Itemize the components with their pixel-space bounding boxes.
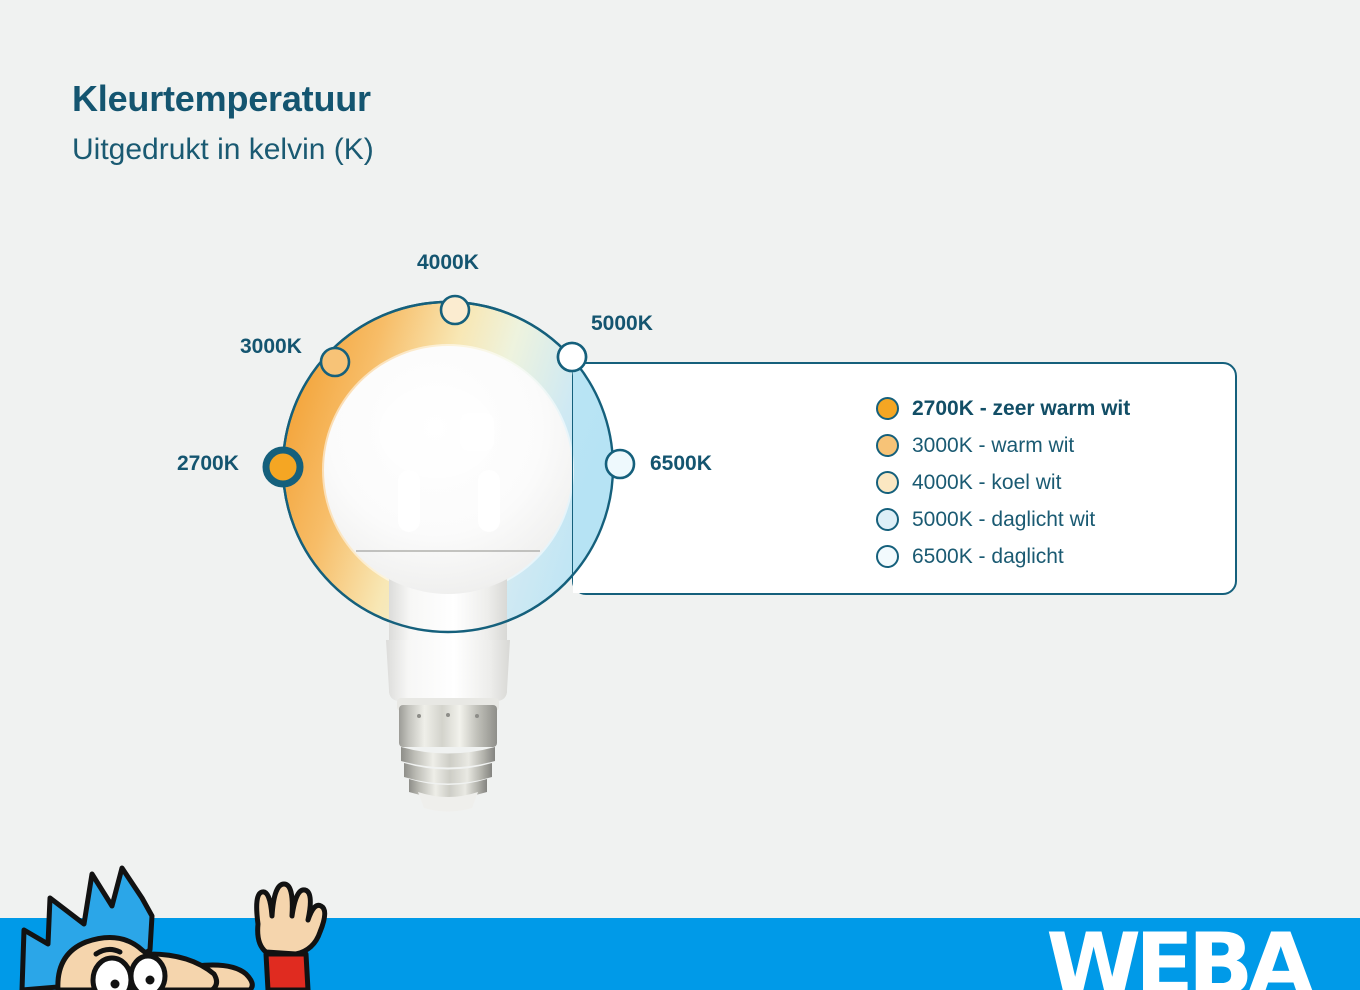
legend-dot-2700k: [876, 397, 899, 420]
legend-dot-4000k: [876, 471, 899, 494]
marker-2700k[interactable]: [266, 450, 300, 484]
ring-label-3000k: 3000K: [240, 335, 302, 359]
legend-label-4000k: 4000K - koel wit: [912, 471, 1061, 495]
infographic-canvas: Kleurtemperatuur Uitgedrukt in kelvin (K…: [0, 0, 1360, 990]
weba-mascot-character: [0, 858, 340, 990]
legend-label-6500k: 6500K - daglicht: [912, 545, 1064, 569]
ring-label-4000k: 4000K: [417, 251, 479, 275]
legend-item-2700k[interactable]: 2700K - zeer warm wit: [876, 390, 1216, 427]
weba-logo: WEBA: [1046, 922, 1308, 990]
marker-3000k[interactable]: [321, 348, 349, 376]
marker-4000k[interactable]: [441, 296, 469, 324]
legend-item-6500k[interactable]: 6500K - daglicht: [876, 538, 1216, 575]
legend-label-3000k: 3000K - warm wit: [912, 434, 1074, 458]
legend-dot-6500k: [876, 545, 899, 568]
legend-item-3000k[interactable]: 3000K - warm wit: [876, 427, 1216, 464]
legend-label-5000k: 5000K - daglicht wit: [912, 508, 1095, 532]
legend-dot-3000k: [876, 434, 899, 457]
legend-item-4000k[interactable]: 4000K - koel wit: [876, 464, 1216, 501]
legend-list: 2700K - zeer warm wit 3000K - warm wit 4…: [876, 390, 1216, 575]
ring-label-2700k: 2700K: [177, 452, 239, 476]
legend-item-5000k[interactable]: 5000K - daglicht wit: [876, 501, 1216, 538]
callout-left-mask: [573, 364, 625, 593]
legend-dot-5000k: [876, 508, 899, 531]
legend-label-2700k: 2700K - zeer warm wit: [912, 397, 1130, 421]
ring-label-6500k: 6500K: [650, 452, 712, 476]
ring-label-5000k: 5000K: [591, 312, 653, 336]
